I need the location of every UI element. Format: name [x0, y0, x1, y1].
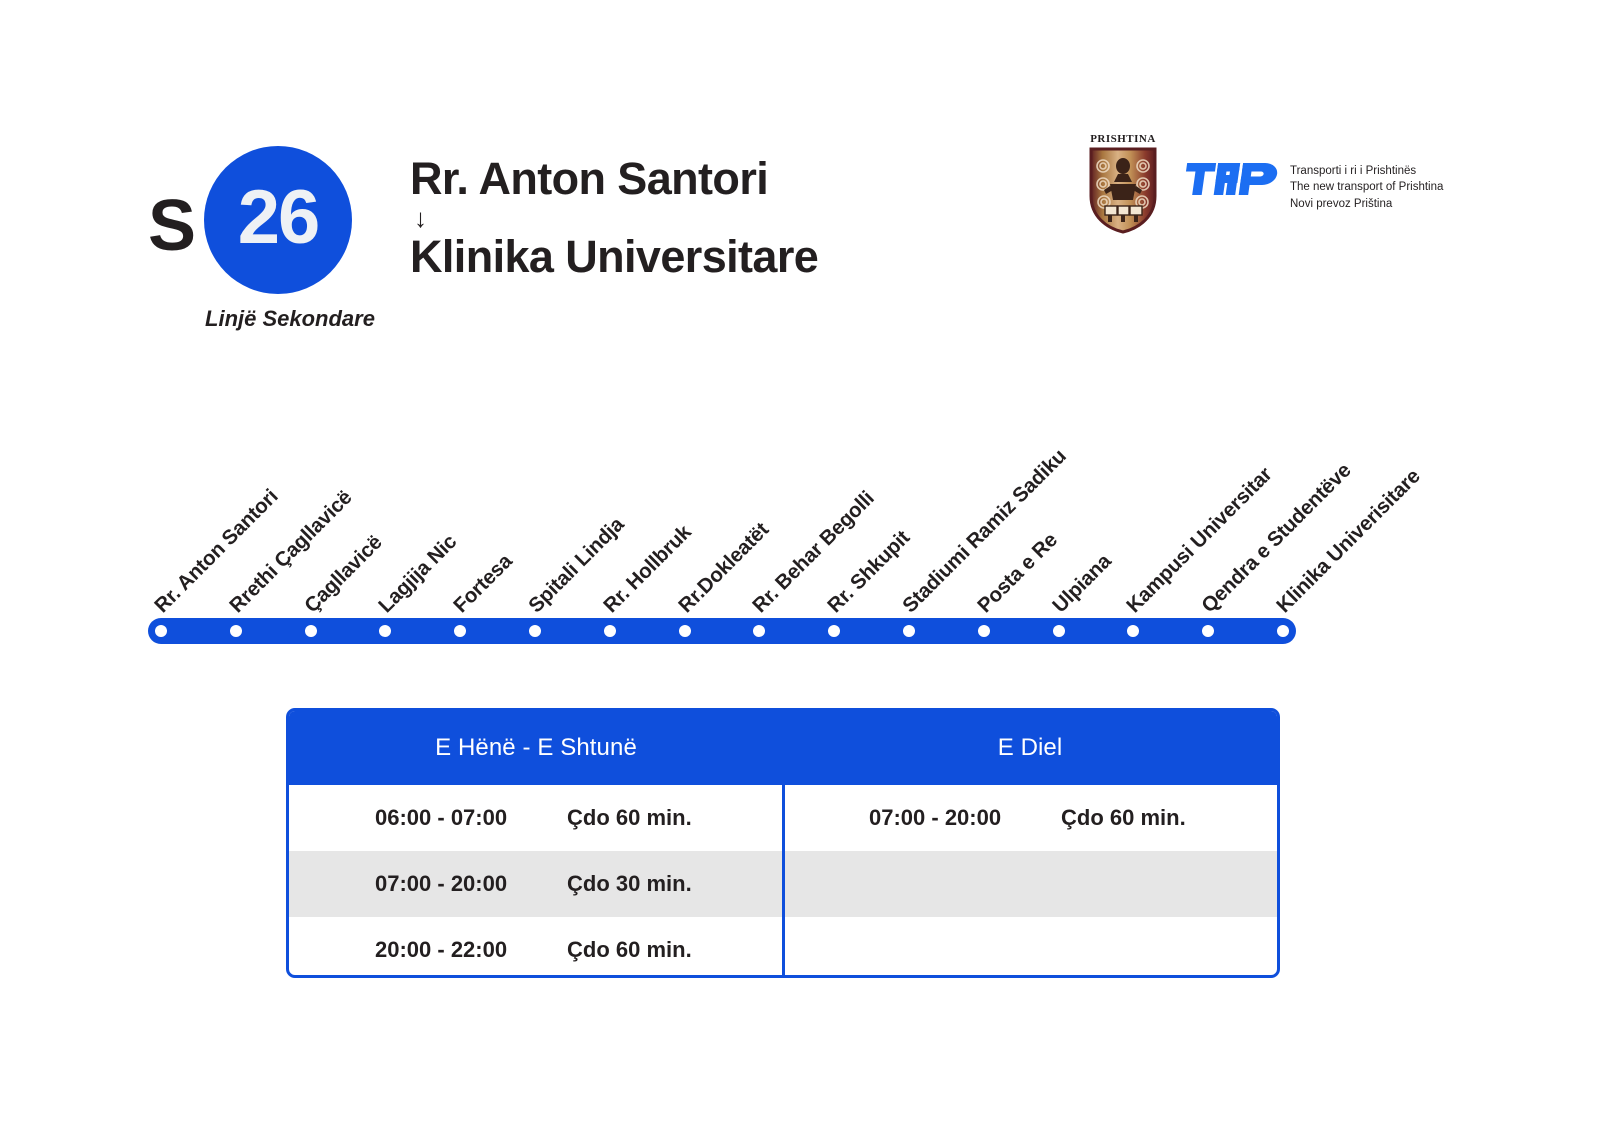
stop-dot[interactable] [903, 625, 915, 637]
schedule-cell-weekday: 06:00 - 07:00Çdo 60 min. [289, 785, 783, 851]
stop-dot[interactable] [529, 625, 541, 637]
stop-label: Fortesa [449, 550, 517, 618]
route-map: Rr. Anton SantoriRrethi ÇagllavicëÇaglla… [0, 400, 1600, 670]
route-line-bar [148, 618, 1296, 644]
stop-dot[interactable] [978, 625, 990, 637]
direction-arrow-icon: ↓ [414, 205, 1030, 231]
schedule-frequency: Çdo 30 min. [567, 871, 697, 897]
tagline-albanian: Transporti i ri i Prishtinës [1290, 163, 1443, 179]
stop-dot[interactable] [828, 625, 840, 637]
schedule-cell-sunday [783, 851, 1277, 917]
stop-label: Qendra e Studentëve [1197, 459, 1356, 618]
stop-label: Lagjija Nic [374, 530, 462, 618]
stop-dot[interactable] [230, 625, 242, 637]
route-origin: Rr. Anton Santori [410, 155, 1030, 203]
stop-dot[interactable] [454, 625, 466, 637]
schedule-header-row: E Hënë - E Shtunë E Diel [289, 711, 1277, 785]
poster-header: S 26 Linjë Sekondare Rr. Anton Santori ↓… [0, 0, 1600, 360]
schedule-time-range: 06:00 - 07:00 [375, 805, 525, 831]
schedule-column-sunday: E Diel [783, 711, 1277, 785]
schedule-cell-weekday: 20:00 - 22:00Çdo 60 min. [289, 917, 783, 978]
stop-dot[interactable] [1127, 625, 1139, 637]
stop-dot[interactable] [305, 625, 317, 637]
stop-label: Kampusi Universitar [1122, 463, 1277, 618]
stop-dot[interactable] [753, 625, 765, 637]
schedule-cell-weekday: 07:00 - 20:00Çdo 30 min. [289, 851, 783, 917]
stop-label-list: Rr. Anton SantoriRrethi ÇagllavicëÇaglla… [0, 400, 1600, 618]
schedule-table: E Hënë - E Shtunë E Diel 06:00 - 07:00Çd… [286, 708, 1280, 978]
crest-shield-icon [1088, 146, 1158, 234]
stop-dot[interactable] [679, 625, 691, 637]
stop-label: Rr. Behar Begolli [748, 487, 879, 618]
stop-dot[interactable] [1277, 625, 1289, 637]
trip-taglines: Transporti i ri i Prishtinës The new tra… [1290, 163, 1443, 212]
schedule-column-weekday: E Hënë - E Shtunë [289, 711, 783, 785]
route-destination: Klinika Universitare [410, 233, 1030, 281]
trip-logo-icon [1182, 157, 1282, 201]
stop-dot[interactable] [379, 625, 391, 637]
schedule-cell-sunday: 07:00 - 20:00Çdo 60 min. [783, 785, 1277, 851]
schedule-frequency: Çdo 60 min. [567, 937, 697, 963]
route-type-label: Linjë Sekondare [200, 306, 380, 332]
route-title: Rr. Anton Santori ↓ Klinika Universitare [410, 155, 1030, 280]
prishtina-crest-icon: PRISHTINA [1078, 133, 1168, 237]
tagline-english: The new transport of Prishtina [1290, 179, 1443, 195]
route-number-circle: 26 [204, 146, 352, 294]
schedule-frequency: Çdo 60 min. [567, 805, 697, 831]
schedule-body: 06:00 - 07:00Çdo 60 min.07:00 - 20:00Çdo… [289, 785, 1277, 975]
stop-dot[interactable] [1053, 625, 1065, 637]
schedule-frequency: Çdo 60 min. [1061, 805, 1191, 831]
branding-logos: PRISHTINA [1078, 133, 1478, 237]
schedule-time-range: 07:00 - 20:00 [375, 871, 525, 897]
stop-label: Klinika Univerisitare [1272, 465, 1425, 618]
stop-dot[interactable] [155, 625, 167, 637]
stop-label: Ulpiana [1048, 550, 1116, 618]
schedule-time-range: 20:00 - 22:00 [375, 937, 525, 963]
route-badge: S 26 Linjë Sekondare [148, 138, 378, 338]
schedule-time-range: 07:00 - 20:00 [869, 805, 1019, 831]
tagline-serbian: Novi prevoz Priština [1290, 196, 1443, 212]
route-number: 26 [238, 180, 319, 256]
schedule-cell-sunday [783, 917, 1277, 978]
stop-dot[interactable] [1202, 625, 1214, 637]
schedule-column-divider [782, 785, 785, 975]
crest-label: PRISHTINA [1078, 133, 1168, 145]
stop-dot[interactable] [604, 625, 616, 637]
route-prefix-letter: S [148, 190, 195, 262]
stop-label: Rr. Anton Santori [150, 485, 283, 618]
